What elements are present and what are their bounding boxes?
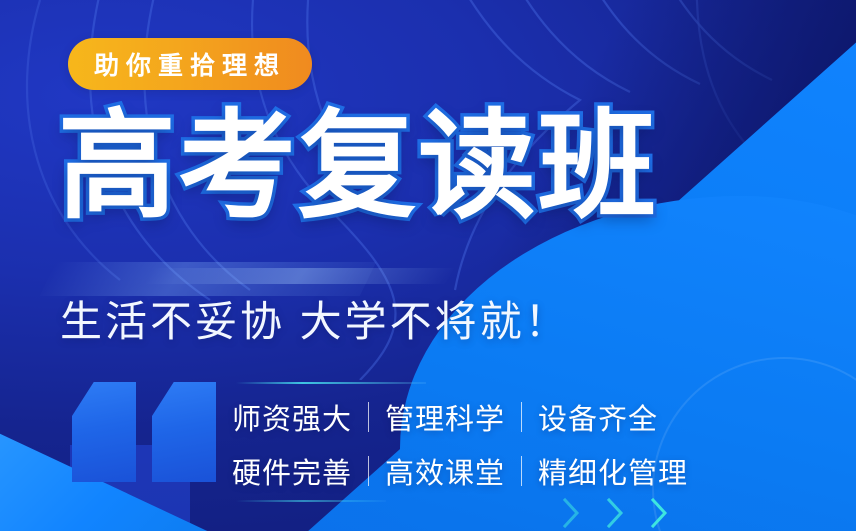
feature-item: 高效课堂 (385, 450, 505, 492)
poster-banner: 助你重拾理想 高考复读班 生活不妥协 大学不将就！ 师资强大管理科学设备齐全硬件… (0, 0, 856, 531)
chevron-right-icon (606, 497, 624, 529)
feature-separator (368, 402, 369, 432)
accent-rule-bottom (236, 500, 386, 502)
subtitle: 生活不妥协 大学不将就！ (60, 288, 570, 349)
page-title: 高考复读班 (58, 108, 658, 226)
feature-row: 硬件完善高效课堂精细化管理 (232, 450, 688, 492)
chevron-group (562, 497, 668, 529)
quote-mark-icon (72, 382, 222, 482)
feature-separator (521, 402, 522, 432)
feature-item: 硬件完善 (232, 450, 352, 492)
feature-separator (521, 456, 522, 486)
chevron-right-icon (650, 497, 668, 529)
feature-separator (368, 456, 369, 486)
feature-item: 管理科学 (385, 396, 505, 438)
light-streak-secondary (146, 268, 454, 284)
feature-row: 师资强大管理科学设备齐全 (232, 396, 688, 438)
tagline-badge: 助你重拾理想 (68, 38, 312, 90)
feature-item: 设备齐全 (538, 396, 658, 438)
tagline-badge-label: 助你重拾理想 (94, 46, 286, 82)
feature-item: 精细化管理 (538, 450, 688, 492)
chevron-right-icon (562, 497, 580, 529)
feature-item: 师资强大 (232, 396, 352, 438)
feature-list: 师资强大管理科学设备齐全硬件完善高效课堂精细化管理 (232, 396, 688, 492)
accent-rule-top (236, 382, 426, 384)
